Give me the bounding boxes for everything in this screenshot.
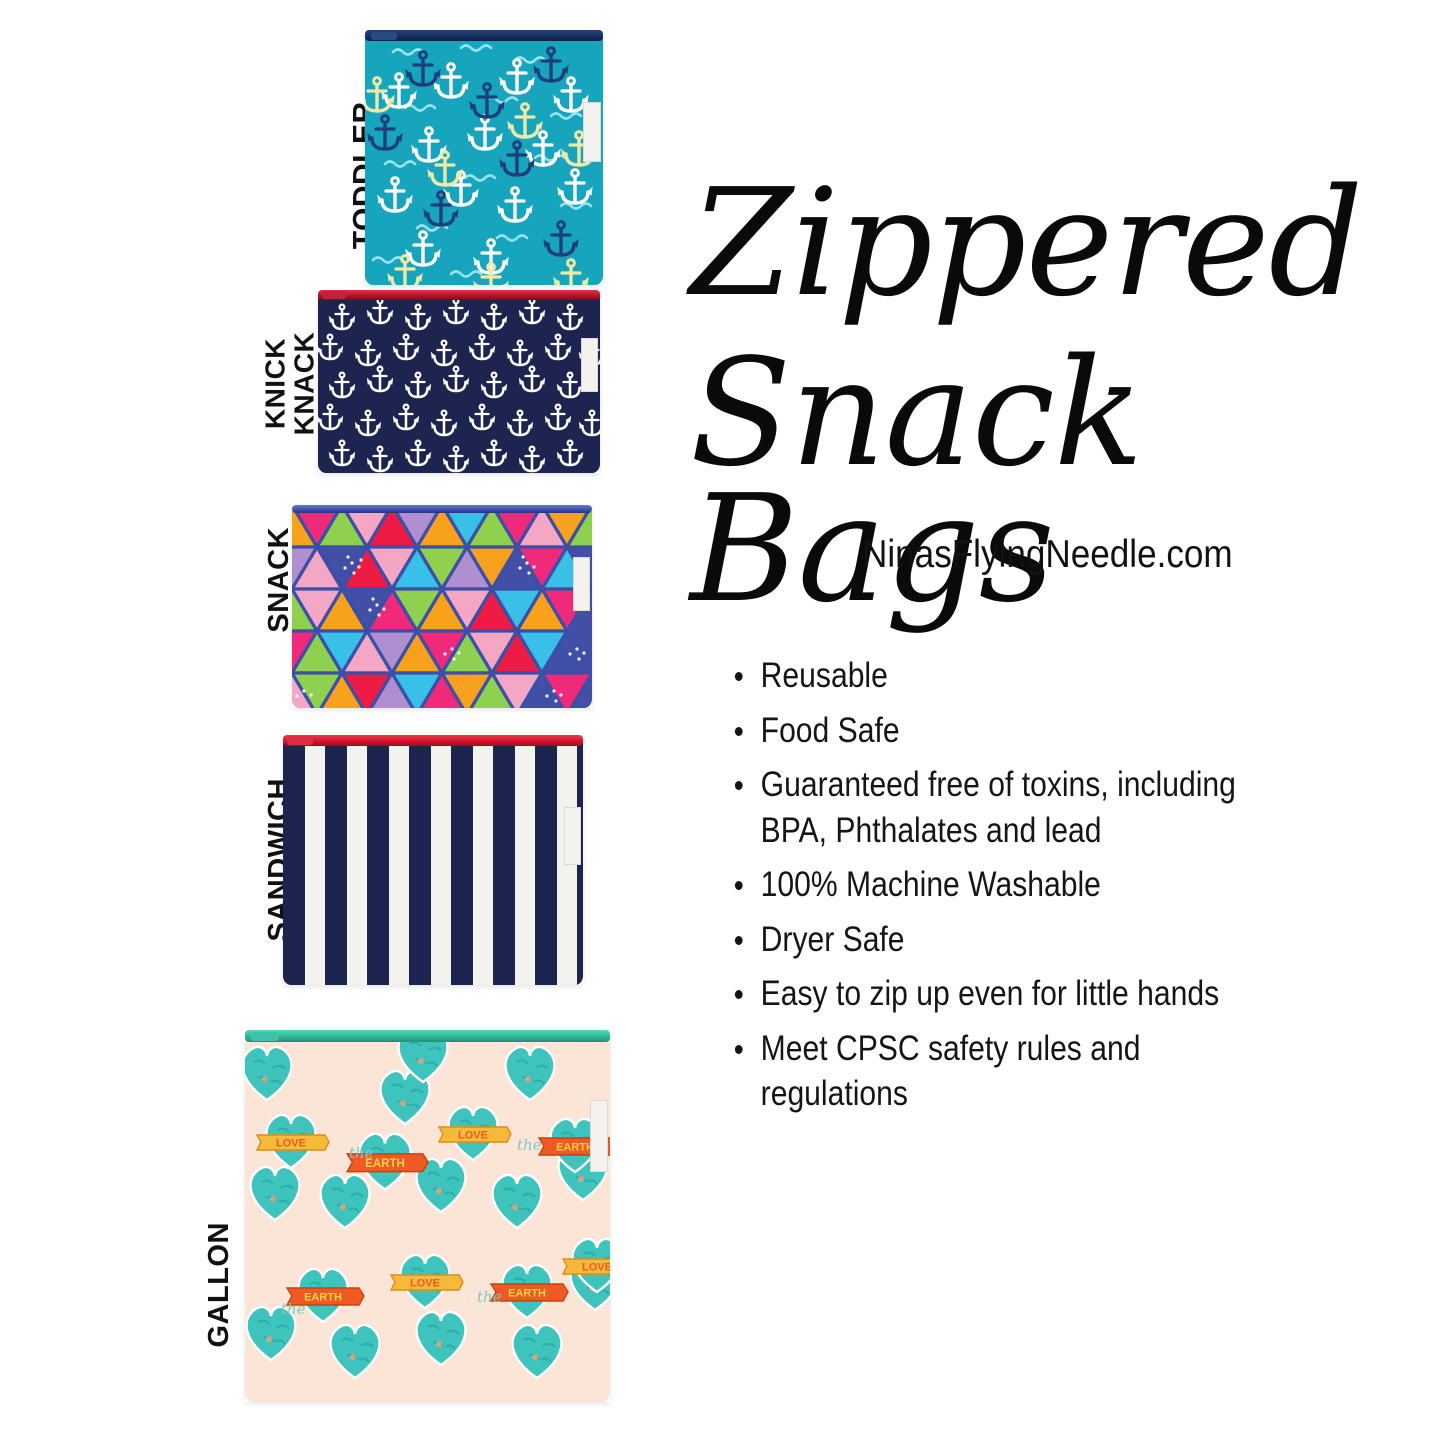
brand-tag-toddler [583, 102, 601, 162]
zipper-pull-sandwich [287, 736, 313, 745]
feature-item: Easy to zip up even for little hands [728, 971, 1330, 1017]
svg-text:the: the [477, 1288, 502, 1306]
svg-text:the: the [349, 1144, 374, 1162]
feature-item: Food Safe [728, 708, 1330, 754]
bag-image-gallon: LOVE EARTH [245, 1030, 610, 1402]
bag-fabric-knick-knack [318, 290, 600, 473]
pattern-navy-anchors [318, 290, 600, 473]
zipper-pull-gallon [251, 1032, 279, 1041]
zipper-pull-toddler [371, 32, 397, 40]
page-title-line1: Zippered [690, 175, 1410, 311]
pattern-color-triangles [292, 505, 592, 708]
infographic-canvas: TODDLER [0, 0, 1440, 1440]
bag-fabric-sandwich [283, 735, 583, 985]
brand-tag-snack [573, 557, 590, 611]
feature-item: Guaranteed free of toxins, including BPA… [728, 762, 1330, 853]
bag-fabric-snack [292, 505, 592, 708]
size-label-knick-knack: KNICK KNACK [261, 289, 318, 479]
pattern-love-the-earth-hearts: LOVE EARTH [245, 1030, 610, 1402]
svg-text:the: the [517, 1136, 542, 1154]
bag-fabric-toddler [365, 30, 603, 285]
brand-tag-knick-knack [581, 338, 598, 392]
feature-item: Dryer Safe [728, 917, 1330, 963]
feature-item: 100% Machine Washable [728, 862, 1330, 908]
pattern-teal-anchors [365, 30, 603, 285]
svg-text:the: the [281, 1300, 306, 1318]
bag-fabric-gallon: LOVE EARTH [245, 1030, 610, 1402]
zipper-toddler [365, 30, 603, 41]
bag-image-snack [292, 505, 592, 708]
zipper-knick-knack [318, 290, 600, 300]
website-url[interactable]: NinasFlyingNeedle.com [862, 533, 1233, 577]
size-label-snack: SNACK [265, 485, 295, 675]
features-list: Reusable Food Safe Guaranteed free of to… [728, 653, 1428, 1126]
zipper-gallon [245, 1030, 610, 1042]
zipper-pull-knick-knack [322, 291, 346, 299]
size-label-gallon: GALLON [205, 1190, 235, 1380]
brand-tag-gallon [590, 1100, 608, 1172]
brand-tag-sandwich [564, 807, 581, 865]
bag-image-sandwich [283, 735, 583, 985]
bag-image-toddler [365, 30, 603, 285]
zipper-snack [292, 505, 592, 513]
feature-item: Reusable [728, 653, 1330, 699]
bag-image-knick-knack [318, 290, 600, 473]
feature-item: Meet CPSC safety rules and regulations [728, 1026, 1330, 1117]
zipper-sandwich [283, 735, 583, 746]
